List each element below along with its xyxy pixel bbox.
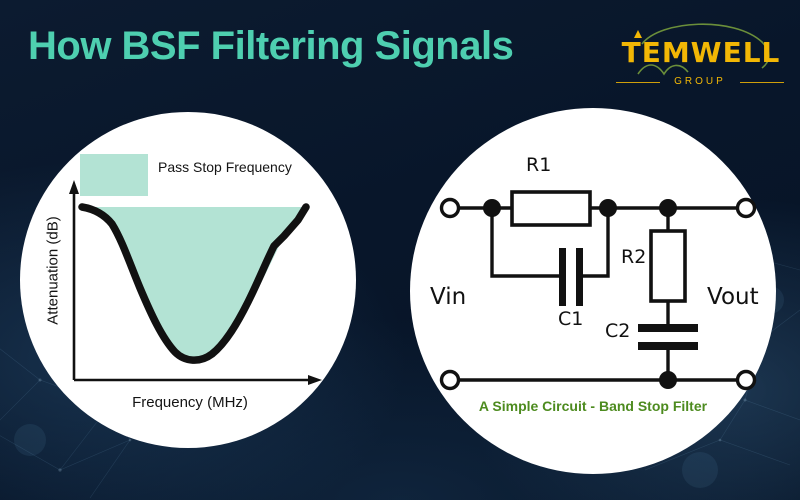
r1-resistor-body <box>512 192 590 225</box>
junction-dot-b <box>599 199 617 217</box>
frequency-response-chart: Pass Stop Frequency Attenuation (dB) Fre… <box>20 112 356 448</box>
chart-disc: Pass Stop Frequency Attenuation (dB) Fre… <box>20 112 356 448</box>
vin-label: Vin <box>430 284 466 310</box>
page-title: How BSF Filtering Signals <box>28 24 608 69</box>
vout-label: Vout <box>707 284 759 310</box>
r2-resistor-body <box>651 231 685 301</box>
vin-bottom-terminal <box>442 372 459 389</box>
logo-subtitle: GROUP <box>612 76 788 87</box>
band-stop-filter-schematic: R1 C1 R2 C2 Vin Vout A Simple Circuit - … <box>410 108 776 474</box>
r1-label: R1 <box>526 154 551 176</box>
circuit-disc: R1 C1 R2 C2 Vin Vout A Simple Circuit - … <box>410 108 776 474</box>
y-axis-arrowhead <box>69 180 79 194</box>
chart-x-axis-label: Frequency (MHz) <box>60 394 320 411</box>
junction-dot-d <box>659 371 677 389</box>
infographic-canvas: How BSF Filtering Signals TEMWELL GROUP <box>0 0 800 500</box>
c1-label: C1 <box>558 308 583 330</box>
chart-y-axis-label: Attenuation (dB) <box>45 196 62 346</box>
temwell-logo[interactable]: TEMWELL GROUP <box>612 22 788 100</box>
junction-dot-c <box>659 199 677 217</box>
chart-legend-label: Pass Stop Frequency <box>158 159 292 175</box>
vin-top-terminal <box>442 200 459 217</box>
c1-capacitor-plates <box>559 248 583 306</box>
c2-capacitor-plates <box>638 324 698 350</box>
r2-label: R2 <box>621 246 646 268</box>
pass-stop-frequency-swatch <box>80 154 148 196</box>
vout-bottom-terminal <box>738 372 755 389</box>
junction-dot-a <box>483 199 501 217</box>
vout-top-terminal <box>738 200 755 217</box>
circuit-caption: A Simple Circuit - Band Stop Filter <box>410 398 776 414</box>
c2-label: C2 <box>605 320 630 342</box>
logo-wordmark: TEMWELL <box>620 36 782 69</box>
x-axis-arrowhead <box>308 375 322 385</box>
